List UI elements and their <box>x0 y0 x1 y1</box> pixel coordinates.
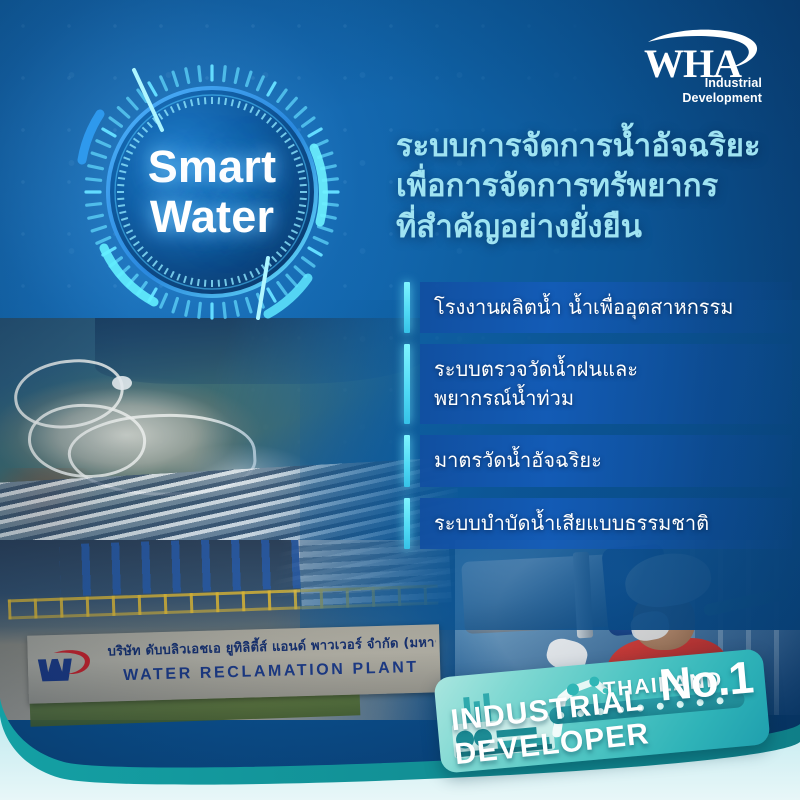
list-item-panel: ระบบตรวจวัดน้ำฝนและ พยากรณ์น้ำท่วม <box>420 344 792 424</box>
headline-line-1: ระบบการจัดการน้ำอัจฉริยะ <box>396 126 788 166</box>
list-item-label: ระบบบำบัดน้ำเสียแบบธรรมชาติ <box>434 509 778 537</box>
list-item[interactable]: มาตรวัดน้ำอัจฉริยะ <box>404 435 792 486</box>
aerial-reservoir-photo <box>0 318 420 543</box>
smart-water-line2: Water <box>150 194 274 240</box>
list-item[interactable]: ระบบตรวจวัดน้ำฝนและ พยากรณ์น้ำท่วม <box>404 344 792 424</box>
aerial-access-road <box>11 354 128 433</box>
bullet-accent-bar <box>404 344 410 424</box>
worker-face <box>633 592 695 650</box>
list-item-label: โรงงานผลิตน้ำ น้ำเพื่ออุตสาหกรรม <box>434 293 778 321</box>
smart-water-title: Smart Water <box>62 52 362 332</box>
list-item-label-cont: พยากรณ์น้ำท่วม <box>434 384 778 412</box>
aerial-access-road <box>26 400 149 482</box>
list-item-panel: มาตรวัดน้ำอัจฉริยะ <box>420 435 792 486</box>
valve-flange <box>573 552 593 639</box>
valve-body <box>461 554 620 634</box>
list-item-label: ระบบตรวจวัดน้ำฝนและ <box>434 355 778 383</box>
aerial-tank <box>112 376 132 390</box>
aerial-earthworks <box>0 468 100 548</box>
feature-list: โรงงานผลิตน้ำ น้ำเพื่ออุตสาหกรรม ระบบตรว… <box>404 282 792 560</box>
wha-logo-sub-industrial: Industrial <box>705 76 762 90</box>
bullet-accent-bar <box>404 282 410 333</box>
wha-logo-sub-development: Development <box>682 91 762 105</box>
list-item-panel: ระบบบำบัดน้ำเสียแบบธรรมชาติ <box>420 498 792 549</box>
poster-canvas: บริษัท ดับบลิวเอชเอ ยูทิลิตี้ส์ แอนด์ พา… <box>0 0 800 800</box>
page-title: ระบบการจัดการน้ำอัจฉริยะ เพื่อการจัดการท… <box>396 126 788 247</box>
bullet-accent-bar <box>404 498 410 549</box>
list-item-panel: โรงงานผลิตน้ำ น้ำเพื่ออุตสาหกรรม <box>420 282 792 333</box>
green-pipe <box>703 587 790 617</box>
aerial-access-road <box>66 409 258 501</box>
list-item[interactable]: โรงงานผลิตน้ำ น้ำเพื่ออุตสาหกรรม <box>404 282 792 333</box>
smart-water-emblem: Smart Water <box>62 52 362 332</box>
list-item[interactable]: ระบบบำบัดน้ำเสียแบบธรรมชาติ <box>404 498 792 549</box>
worker-face-mask <box>629 609 671 643</box>
smart-water-line1: Smart <box>148 144 277 190</box>
bullet-accent-bar <box>404 435 410 486</box>
headline-line-3: ที่สำคัญอย่างยั่งยืน <box>396 207 788 247</box>
headline-line-2: เพื่อการจัดการทรัพยากร <box>396 166 788 206</box>
yellow-railing <box>8 585 438 620</box>
wha-logo: WHA Industrial Development <box>642 26 762 104</box>
list-item-label: มาตรวัดน้ำอัจฉริยะ <box>434 446 778 474</box>
blue-pipework <box>59 535 321 596</box>
plant-roof-photo <box>0 457 463 613</box>
